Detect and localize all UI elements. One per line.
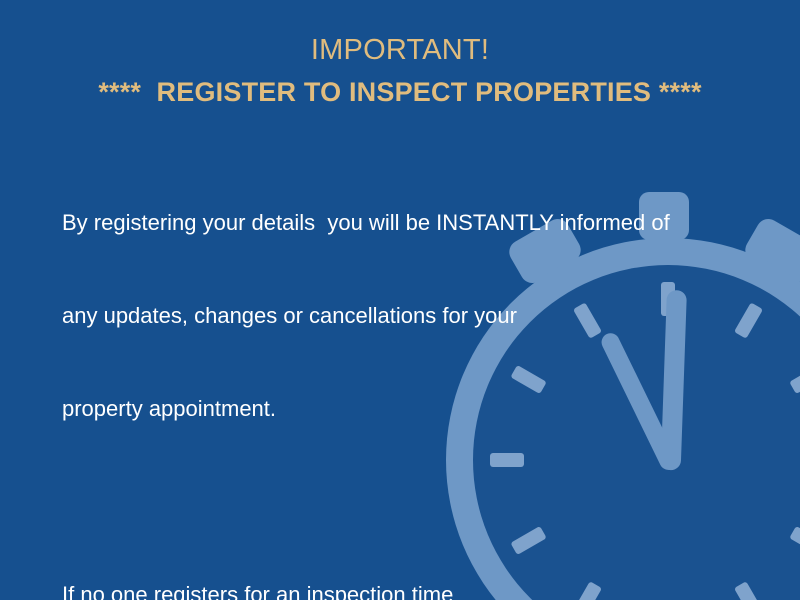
paragraph-1-line-1: By registering your details you will be …: [62, 207, 722, 238]
headline-important: IMPORTANT!: [0, 30, 800, 70]
paragraph-no-registration-warning: If no one registers for an inspection ti…: [62, 517, 722, 600]
headline-block: IMPORTANT! **** REGISTER TO INSPECT PROP…: [0, 30, 800, 114]
headline-register-to-inspect: **** REGISTER TO INSPECT PROPERTIES ****: [0, 70, 800, 114]
slide-canvas: IMPORTANT! **** REGISTER TO INSPECT PROP…: [0, 0, 800, 600]
paragraph-spacer-1: [62, 486, 722, 517]
slide-text-content: IMPORTANT! **** REGISTER TO INSPECT PROP…: [0, 0, 800, 600]
paragraph-1-line-2: any updates, changes or cancellations fo…: [62, 300, 722, 331]
body-block: By registering your details you will be …: [62, 145, 722, 600]
paragraph-2-line-1: If no one registers for an inspection ti…: [62, 579, 722, 600]
paragraph-1-line-3: property appointment.: [62, 393, 722, 424]
paragraph-registering-details: By registering your details you will be …: [62, 145, 722, 486]
